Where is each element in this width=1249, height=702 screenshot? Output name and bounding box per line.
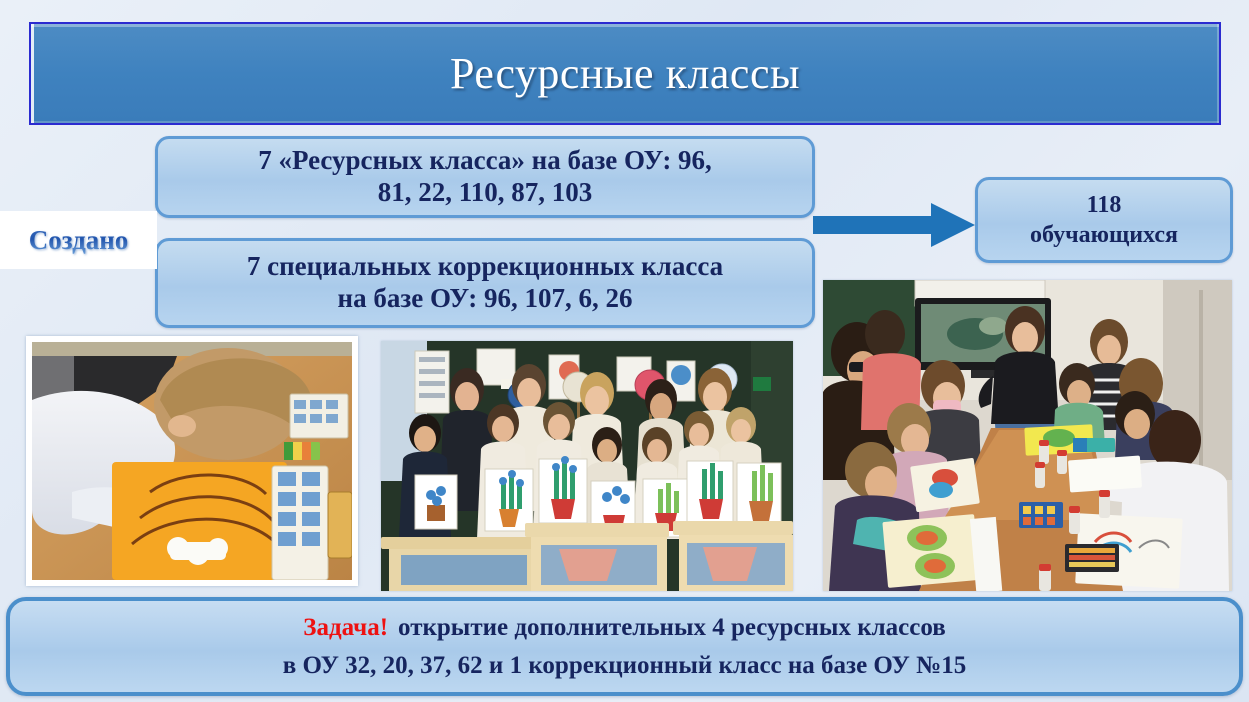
created-label-band: Создано <box>0 211 157 269</box>
task-banner: Задача!открытие дополнительных 4 ресурсн… <box>6 597 1243 696</box>
resource-classes-text: 7 «Ресурсных класса» на базе ОУ: 96, 81,… <box>258 145 712 209</box>
resource-classes-line1: 7 «Ресурсных класса» на базе ОУ: 96, <box>258 145 712 175</box>
created-label: Создано <box>29 225 129 256</box>
students-count-label: обучающихся <box>1030 222 1178 248</box>
correction-classes-line2: на базе ОУ: 96, 107, 6, 26 <box>338 283 633 313</box>
correction-classes-line1: 7 специальных коррекционных класса <box>247 251 723 281</box>
task-line-1: Задача!открытие дополнительных 4 ресурсн… <box>303 609 945 647</box>
photo-boy-puzzle-board <box>26 336 358 586</box>
students-count-number: 118 <box>1087 192 1122 218</box>
students-count-text: 118 обучающихся <box>1030 190 1178 250</box>
resource-classes-line2: 81, 22, 110, 87, 103 <box>378 177 593 207</box>
photo-art-workshop <box>823 280 1232 591</box>
slide-root: Ресурсные классы 7 «Ресурсных класса» на… <box>0 0 1249 702</box>
correction-classes-box: 7 специальных коррекционных класса на ба… <box>155 238 815 328</box>
page-title: Ресурсные классы <box>450 48 800 99</box>
task-line-2: в ОУ 32, 20, 37, 62 и 1 коррекционный кл… <box>283 647 966 685</box>
photo-class-group-crafts <box>381 341 793 591</box>
correction-classes-text: 7 специальных коррекционных класса на ба… <box>247 251 723 315</box>
task-keyword: Задача! <box>303 614 388 641</box>
slide-title-banner: Ресурсные классы <box>29 22 1221 125</box>
task-line-1-rest: открытие дополнительных 4 ресурсных клас… <box>398 614 946 641</box>
right-arrow-icon <box>813 203 975 247</box>
students-count-box: 118 обучающихся <box>975 177 1233 263</box>
resource-classes-box: 7 «Ресурсных класса» на базе ОУ: 96, 81,… <box>155 136 815 218</box>
